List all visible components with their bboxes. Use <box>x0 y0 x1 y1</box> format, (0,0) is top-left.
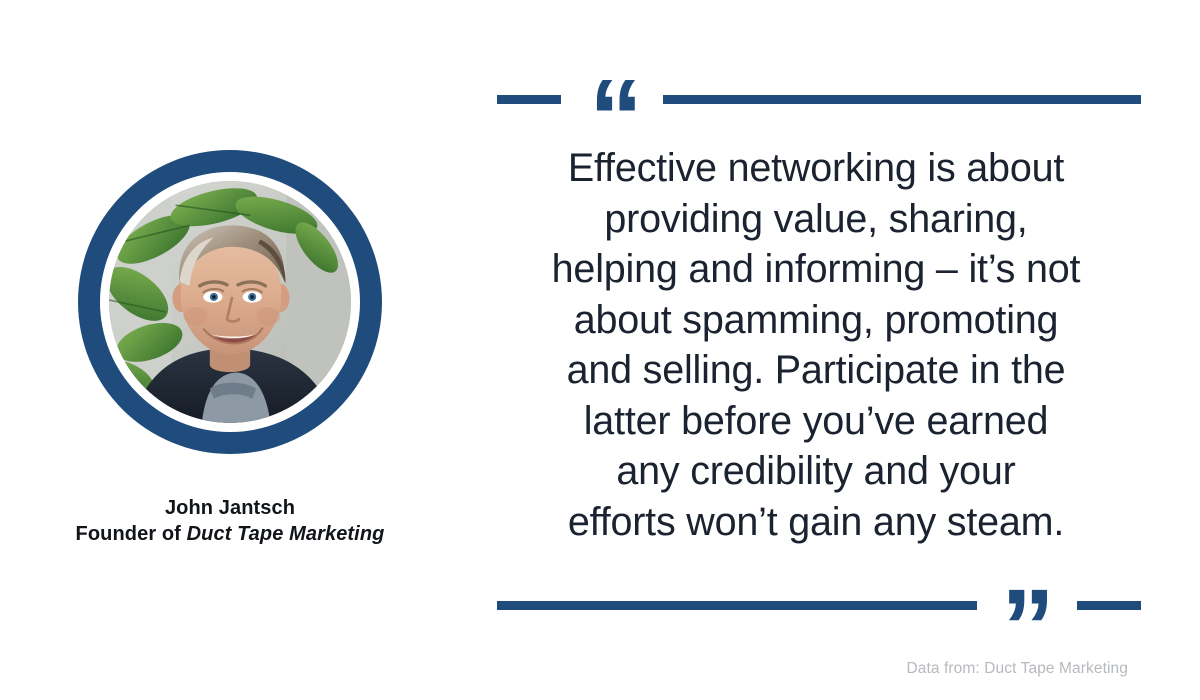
portrait-ring <box>78 150 382 454</box>
portrait-panel: John Jantsch Founder of Duct Tape Market… <box>0 0 460 700</box>
ornament-bottom: ” <box>497 572 1141 638</box>
author-role: Founder of Duct Tape Marketing <box>0 521 460 547</box>
quote-text: Effective networking is about providing … <box>490 143 1142 547</box>
quote-panel: “ Effective networking is about providin… <box>460 0 1200 700</box>
quote-line: helping and informing – it’s not <box>552 247 1081 291</box>
author-name: John Jantsch <box>0 495 460 521</box>
quote-line: about spamming, promoting <box>574 298 1059 342</box>
rule-long-top <box>663 95 1141 104</box>
quote-line: providing value, sharing, <box>604 197 1027 241</box>
quote-card: John Jantsch Founder of Duct Tape Market… <box>0 0 1200 700</box>
quote-line: efforts won’t gain any steam. <box>568 500 1064 544</box>
author-role-prefix: Founder of <box>76 523 187 545</box>
source-note: Data from: Duct Tape Marketing <box>906 660 1128 678</box>
quote-line: latter before you’ve earned <box>584 399 1049 443</box>
avatar <box>109 181 351 423</box>
author-company: Duct Tape Marketing <box>187 523 385 545</box>
portrait-illustration <box>109 181 351 423</box>
quote-line: Effective networking is about <box>568 146 1064 190</box>
ornament-top: “ <box>497 66 1141 132</box>
rule-long-bottom <box>497 601 977 610</box>
rule-short-bottom <box>1077 601 1141 610</box>
quote-line: and selling. Participate in the <box>567 348 1066 392</box>
portrait-inner-gap <box>100 172 360 432</box>
attribution: John Jantsch Founder of Duct Tape Market… <box>0 495 460 547</box>
rule-short-top <box>497 95 561 104</box>
quote-line: any credibility and your <box>616 449 1015 493</box>
